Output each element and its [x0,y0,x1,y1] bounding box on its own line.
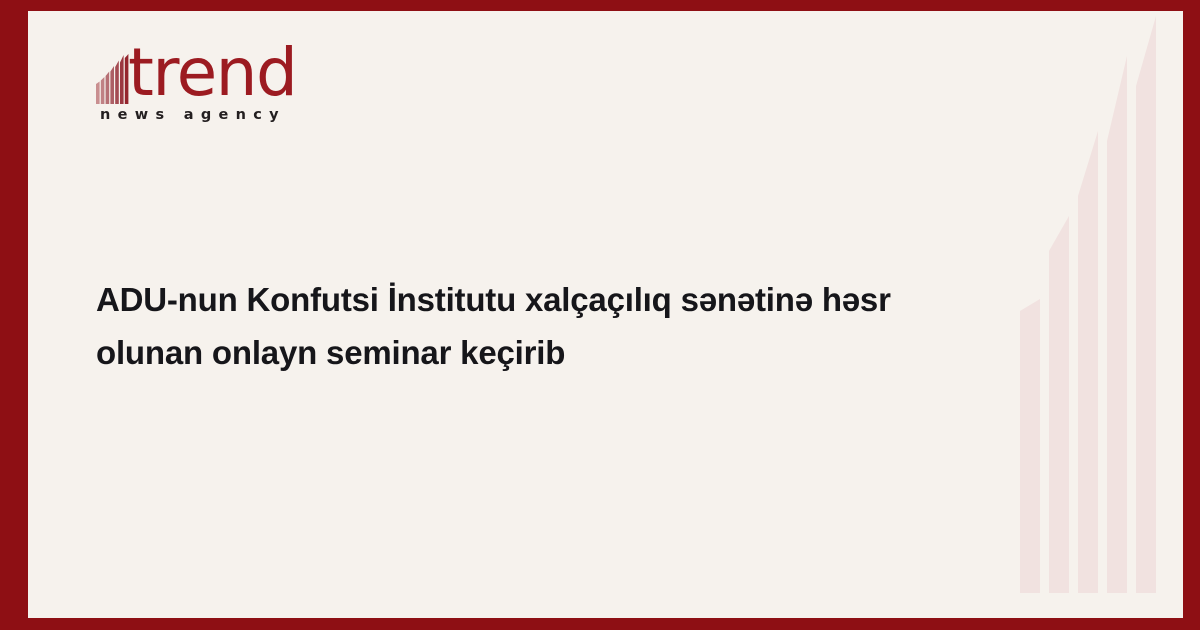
logo-wordmark: trend [128,40,296,106]
ascending-bars-decoration [1018,11,1183,618]
logo-tagline: news agency [100,107,286,123]
share-card: trend news agency ADU-nun Konfutsi İnsti… [0,0,1200,630]
trend-news-agency-logo[interactable]: trend news agency [96,49,356,141]
card-canvas: trend news agency ADU-nun Konfutsi İnsti… [28,11,1183,618]
headline: ADU-nun Konfutsi İnstitutu xalçaçılıq sə… [96,273,996,379]
